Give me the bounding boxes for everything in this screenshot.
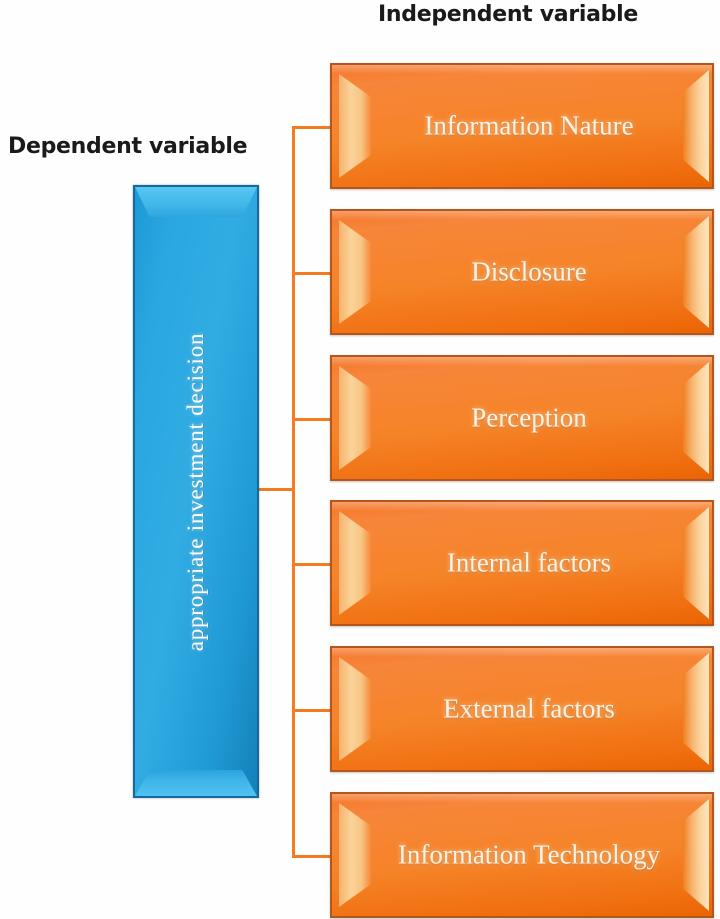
- independent-variable-label-1: Information Nature: [380, 111, 678, 142]
- independent-variable-label-5: External factors: [380, 694, 678, 725]
- box-sheen: [332, 357, 712, 366]
- box-left-bevel: [339, 220, 371, 324]
- connector-stem-to-dependent-box: [258, 488, 295, 491]
- independent-variable-label-6: Information Technology: [380, 840, 678, 871]
- independent-variable-box-2[interactable]: Disclosure: [330, 209, 714, 335]
- box-left-bevel: [339, 511, 371, 615]
- independent-variable-box-6[interactable]: Information Technology: [330, 792, 714, 918]
- independent-variable-label-4: Internal factors: [380, 548, 678, 579]
- box-right-bevel: [683, 362, 709, 474]
- box-sheen: [332, 648, 712, 657]
- box-sheen: [332, 65, 712, 74]
- box-right-bevel: [683, 216, 709, 328]
- connector-branch-6: [292, 855, 332, 858]
- independent-variable-box-5[interactable]: External factors: [330, 646, 714, 772]
- box-right-bevel: [683, 799, 709, 911]
- independent-variable-box-3[interactable]: Perception: [330, 355, 714, 481]
- connector-branch-3: [292, 418, 332, 421]
- box-left-bevel: [339, 366, 371, 470]
- dependent-variable-box[interactable]: appropriate investment decision: [133, 185, 259, 798]
- dependent-variable-label: appropriate investment decision: [183, 332, 209, 651]
- blue-box-top-bevel: [135, 187, 257, 217]
- box-sheen: [332, 502, 712, 511]
- connector-branch-5: [292, 709, 332, 712]
- box-right-bevel: [683, 507, 709, 619]
- box-sheen: [332, 794, 712, 803]
- heading-dependent-variable: Dependent variable: [8, 134, 247, 159]
- box-left-bevel: [339, 657, 371, 761]
- independent-variable-box-1[interactable]: Information Nature: [330, 63, 714, 189]
- connector-trunk-vertical: [292, 126, 295, 856]
- connector-branch-1: [292, 126, 332, 129]
- box-left-bevel: [339, 803, 371, 907]
- independent-variable-label-3: Perception: [380, 403, 678, 434]
- box-left-bevel: [339, 74, 371, 178]
- blue-box-bottom-bevel: [135, 770, 257, 796]
- heading-independent-variable: Independent variable: [378, 2, 638, 27]
- box-right-bevel: [683, 70, 709, 182]
- connector-branch-2: [292, 272, 332, 275]
- box-right-bevel: [683, 653, 709, 765]
- connector-branch-4: [292, 563, 332, 566]
- independent-variable-label-2: Disclosure: [380, 257, 678, 288]
- box-sheen: [332, 211, 712, 220]
- diagram-canvas: Independent variable Dependent variable …: [0, 0, 720, 919]
- independent-variable-box-4[interactable]: Internal factors: [330, 500, 714, 626]
